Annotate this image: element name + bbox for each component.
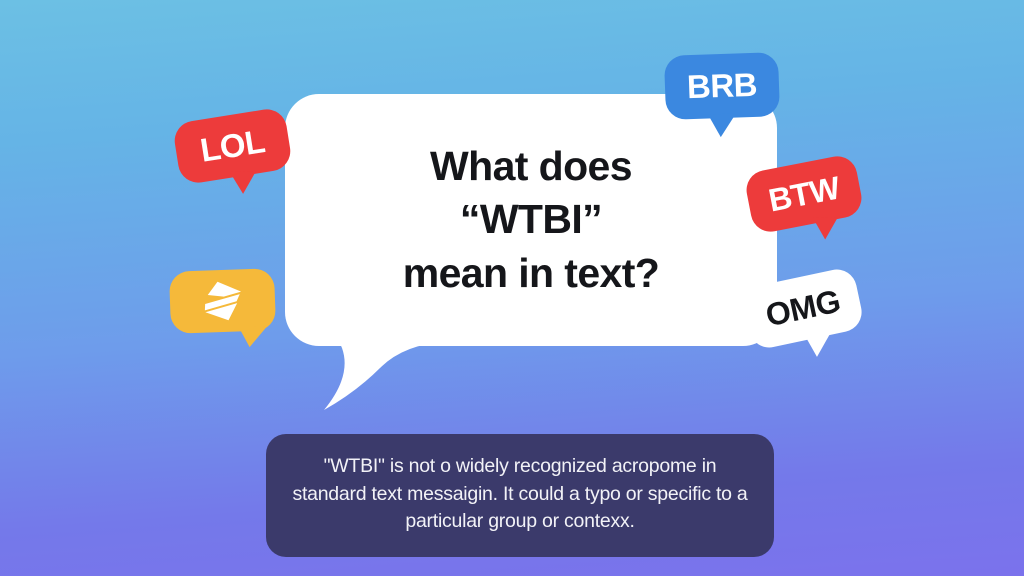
tag-bubble-logo (169, 268, 276, 334)
tag-label-omg: OMG (763, 283, 844, 335)
tag-label-btw: BTW (765, 169, 842, 219)
tag-label-brb: BRB (686, 66, 757, 106)
tag-bubble-brb: BRB (664, 52, 780, 120)
diamond-logo-icon (199, 277, 247, 325)
tag-label-lol: LOL (198, 122, 268, 170)
caption-box: "WTBI" is not o widely recognized acropo… (266, 434, 774, 557)
question-line-3: mean in text? (403, 247, 659, 300)
main-question-bubble: What does “WTBI” mean in text? (285, 94, 777, 346)
question-line-1: What does (430, 140, 632, 193)
tag-tail-omg (804, 334, 830, 357)
tag-tail-brb (708, 114, 737, 138)
tag-tail-btw (813, 217, 838, 239)
main-question-text: What does “WTBI” mean in text? (285, 94, 777, 346)
question-line-2: “WTBI” (460, 193, 602, 246)
slide-canvas: What does “WTBI” mean in text? LOL BRB B… (0, 0, 1024, 576)
tag-tail-lol (230, 172, 256, 194)
tag-tail-logo (239, 326, 268, 347)
tag-bubble-lol: LOL (172, 107, 293, 186)
